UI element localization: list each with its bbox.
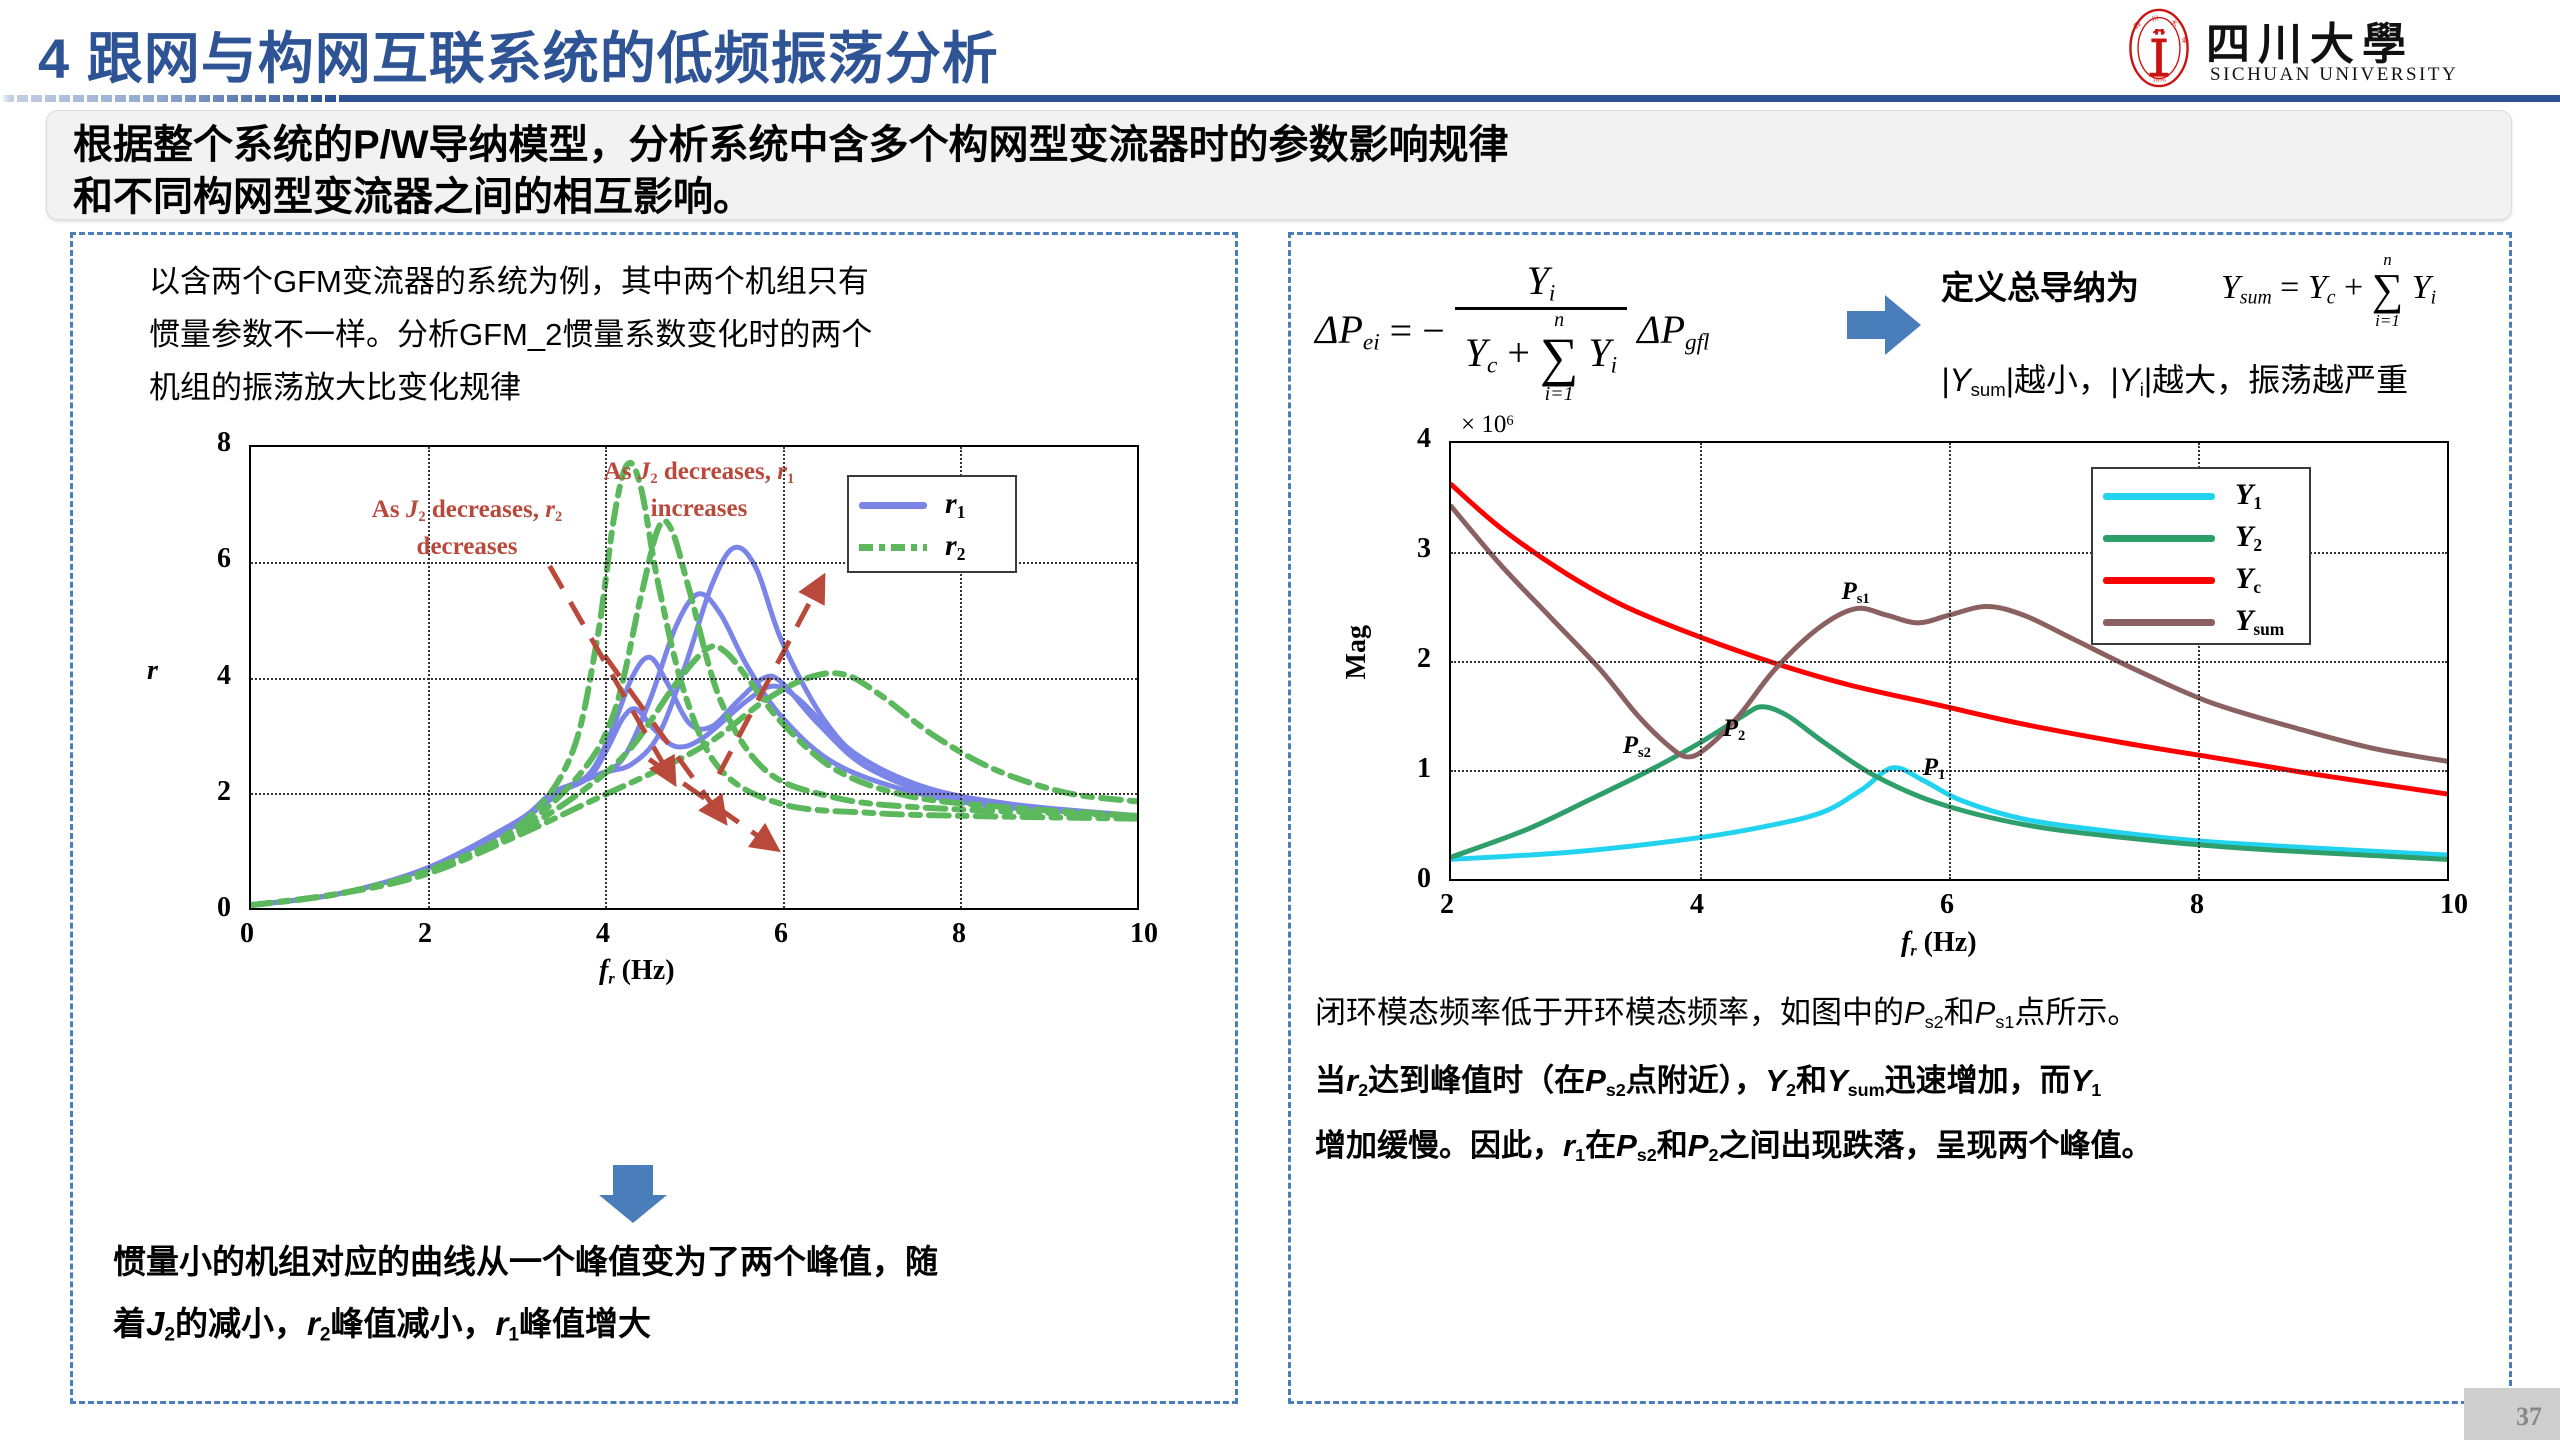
- formula-denominator: Yc + n ∑ i=1 Yi: [1455, 307, 1627, 404]
- formula-rhs: ΔPgfl: [1637, 306, 1709, 356]
- right-chart-legend: Y1 Y2 Yc Ysum: [2091, 467, 2311, 645]
- legend-label-ysum: Ysum: [2235, 604, 2284, 640]
- right-x-axis-sub: r: [1910, 942, 1916, 960]
- legend-label-y2-sub: 2: [2253, 535, 2262, 555]
- lc2-c: 峰值减小，: [330, 1305, 495, 1342]
- legend-label-r1-sub: 1: [957, 502, 966, 522]
- y-tick-label: 0: [217, 892, 231, 924]
- ysum-sum-symbol: n ∑ i=1: [2372, 251, 2404, 329]
- note-b: |越小，: [2006, 362, 2110, 398]
- legend-label-y1: Y1: [2235, 478, 2262, 514]
- note-a: |Y: [1941, 362, 1971, 398]
- ysum-lhs: Y: [2221, 269, 2240, 306]
- series-r1_c: [251, 657, 1137, 905]
- formula-equals: = −: [1390, 307, 1445, 354]
- page-number: 37: [2516, 1402, 2542, 1432]
- ysum-plus: +: [2344, 269, 2363, 306]
- legend-label-yc-base: Y: [2235, 562, 2253, 595]
- left-x-axis-f: f: [599, 955, 608, 986]
- gridline-v: [1700, 443, 1702, 879]
- right-x-axis-label: fr (Hz): [1901, 927, 1977, 961]
- logo-chinese-name: 四川大學: [2206, 8, 2414, 72]
- title-divider-dots: [0, 95, 340, 102]
- left-intro-line-1: 以含两个GFM变流器的系统为例，其中两个机组只有: [149, 255, 1169, 308]
- right-chart-exponent-value: 6: [1506, 413, 1513, 429]
- legend-label-ysum-base: Y: [2235, 604, 2253, 637]
- left-annotation-r1-line2: increases: [559, 494, 839, 524]
- formula-rhs-sub: gfl: [1685, 329, 1709, 355]
- x-tick-label: 8: [952, 918, 966, 950]
- legend-label-y1-base: Y: [2235, 478, 2253, 511]
- note-c: |Y: [2110, 362, 2140, 398]
- point-label-Ps1: Ps1: [1842, 578, 1870, 608]
- right-panel: ΔPei = − Yi Yc + n ∑ i=1 Yi ΔPgfl 定义总导纳为…: [1288, 232, 2512, 1404]
- title-divider: [0, 95, 2560, 102]
- lc2-a: 着: [113, 1305, 146, 1342]
- y-tick-label: 4: [217, 660, 231, 692]
- left-annotation-r1: As J2 decreases, r1 increases: [559, 457, 839, 524]
- legend-line-y1: [2103, 493, 2215, 500]
- y-tick-label: 3: [1417, 533, 1431, 565]
- series-r2_b: [251, 521, 1137, 905]
- ysum-yi: Y: [2412, 269, 2431, 306]
- y-tick-label: 8: [217, 427, 231, 459]
- formula-lhs: ΔPei: [1315, 306, 1380, 356]
- left-panel: 以含两个GFM变流器的系统为例，其中两个机组只有 惯量参数不一样。分析GFM_2…: [70, 232, 1238, 1404]
- point-label-P2: P2: [1723, 715, 1746, 745]
- lc2-r2: r: [307, 1305, 320, 1342]
- legend-label-y2-base: Y: [2235, 520, 2253, 553]
- right-y-axis-label: Mag: [1341, 625, 1373, 679]
- lc2-r1: r: [495, 1305, 508, 1342]
- x-tick-label: 10: [1130, 918, 1158, 950]
- formula-sum-bottom: i=1: [1540, 384, 1579, 404]
- legend-item-yc: Yc: [2103, 559, 2303, 601]
- legend-label-r2-sub: 2: [957, 544, 966, 564]
- formula-rhs-base: ΔP: [1637, 307, 1685, 352]
- formula-den-yi-sub: i: [1611, 353, 1617, 379]
- legend-label-r2-base: r: [945, 529, 957, 562]
- x-tick-label: 10: [2440, 889, 2468, 921]
- formula-fraction: Yi Yc + n ∑ i=1 Yi: [1455, 257, 1627, 404]
- left-y-axis-label: r: [147, 655, 158, 687]
- y-tick-label: 4: [1417, 423, 1431, 455]
- right-x-axis-f: f: [1901, 927, 1910, 958]
- svg-text:學: 學: [2179, 35, 2190, 46]
- ysum-equals: =: [2280, 269, 2299, 306]
- legend-label-ysum-sub: sum: [2253, 619, 2284, 639]
- left-chart: 024681002468 r fr (Hz) r1 r2 As J2 decre…: [129, 425, 1189, 985]
- left-intro-line-2: 惯量参数不一样。分析GFM_2惯量系数变化时的两个: [149, 308, 1169, 361]
- x-tick-label: 6: [1940, 889, 1954, 921]
- legend-item-y1: Y1: [2103, 475, 2303, 517]
- legend-item-y2: Y2: [2103, 517, 2303, 559]
- statement-line-2: 和不同构网型变流器之间的相互影响。: [73, 171, 2485, 223]
- formula-den-yc-sub: c: [1487, 353, 1497, 379]
- gridline-v: [1949, 443, 1951, 879]
- left-arrow-head: [599, 1195, 667, 1223]
- x-tick-label: 0: [240, 918, 254, 950]
- left-x-axis-label: fr (Hz): [599, 955, 675, 989]
- x-tick-label: 2: [418, 918, 432, 950]
- left-annotation-r2-line2: decreases: [317, 532, 617, 562]
- y-tick-label: 2: [1417, 643, 1431, 675]
- statement-box: 根据整个系统的P/W导纳模型，分析系统中含多个构网型变流器时的参数影响规律 和不…: [46, 110, 2512, 220]
- formula-num-sub: i: [1549, 280, 1555, 306]
- footer-corner: [2464, 1388, 2560, 1440]
- page-title: 4 跟网与构网互联系统的低频振荡分析: [38, 14, 999, 95]
- left-conclusion-line-1: 惯量小的机组对应的曲线从一个峰值变为了两个峰值，随: [113, 1235, 1203, 1289]
- left-annotation-r1-line1: As J2 decreases, r1: [559, 457, 839, 494]
- y-tick-label: 1: [1417, 753, 1431, 785]
- gridline-h: [251, 793, 1137, 795]
- formula-lhs-sub: ei: [1363, 329, 1380, 355]
- legend-line-ysum: [2103, 619, 2215, 626]
- x-tick-label: 2: [1440, 889, 1454, 921]
- point-label-P1: P1: [1923, 754, 1946, 784]
- right-conclusion-line-3: 增加缓慢。因此，r1在Ps2和P2之间出现跌落，呈现两个峰值。: [1315, 1120, 2495, 1166]
- formula-num-base: Y: [1527, 258, 1549, 303]
- left-intro-text: 以含两个GFM变流器的系统为例，其中两个机组只有 惯量参数不一样。分析GFM_2…: [149, 255, 1169, 414]
- legend-label-yc-sub: c: [2253, 577, 2261, 597]
- x-tick-label: 6: [774, 918, 788, 950]
- note-a-sub: sum: [1971, 379, 2006, 400]
- lc2-r1sub: 1: [508, 1324, 519, 1345]
- ysum-note: |Ysum|越小，|Yi|越大，振荡越严重: [1941, 355, 2408, 401]
- right-arrow-tip: [1885, 295, 1921, 355]
- ysum-lhs-sub: sum: [2240, 286, 2272, 308]
- legend-label-r1-base: r: [945, 487, 957, 520]
- lc2-Jsub: 2: [164, 1324, 175, 1345]
- formula-den-plus: +: [1507, 331, 1530, 376]
- legend-line-y2: [2103, 535, 2215, 542]
- right-arrow-icon: [1847, 295, 1921, 355]
- university-logo: 1896 四 川 大 學 四川大學 SICHUAN UNIVERSITY: [2120, 6, 2540, 90]
- formula-den-yc: Y: [1465, 331, 1487, 376]
- legend-line-r1: [859, 502, 927, 509]
- x-tick-label: 4: [1690, 889, 1704, 921]
- define-total-admittance-label: 定义总导纳为: [1941, 261, 2139, 309]
- ysum-yi-sub: i: [2431, 286, 2436, 308]
- legend-label-y1-sub: 1: [2253, 493, 2262, 513]
- right-conclusion-line-1: 闭环模态频率低于开环模态频率，如图中的Ps2和Ps1点所示。: [1315, 987, 2495, 1033]
- right-x-axis-unit: (Hz): [1924, 927, 1977, 958]
- ysum-definition-formula: Ysum = Yc + n ∑ i=1 Yi: [2221, 251, 2436, 329]
- statement-line-1: 根据整个系统的P/W导纳模型，分析系统中含多个构网型变流器时的参数影响规律: [73, 119, 2485, 171]
- svg-text:1896: 1896: [2152, 76, 2166, 83]
- x-tick-label: 8: [2190, 889, 2204, 921]
- lc2-r2sub: 2: [320, 1324, 331, 1345]
- legend-label-r2: r2: [945, 529, 965, 565]
- formula-sum-symbol: n ∑ i=1: [1540, 310, 1579, 404]
- left-conclusion-line-2: 着J2的减小，r2峰值减小，r1峰值增大: [113, 1297, 1203, 1362]
- formula-den-yi: Y: [1588, 331, 1610, 376]
- legend-label-r1: r1: [945, 487, 965, 523]
- legend-item-r1: r1: [859, 485, 1009, 525]
- lc2-b: 的减小，: [175, 1305, 307, 1342]
- gridline-h: [251, 678, 1137, 680]
- legend-line-yc: [2103, 577, 2215, 584]
- right-chart: × 106 24681001234 Mag fr (Hz) Y1 Y2 Yc: [1301, 405, 2501, 965]
- right-chart-exponent-base: × 10: [1461, 411, 1506, 438]
- legend-item-ysum: Ysum: [2103, 601, 2303, 643]
- right-conclusion-line-2: 当r2达到峰值时（在Ps2点附近），Y2和Ysum迅速增加，而Y1: [1315, 1055, 2495, 1101]
- point-label-Ps2: Ps2: [1623, 732, 1651, 762]
- y-tick-label: 6: [217, 543, 231, 575]
- lc2-J: J: [146, 1305, 164, 1342]
- left-x-axis-sub: r: [608, 970, 614, 988]
- right-chart-exponent: × 106: [1461, 411, 1514, 439]
- left-arrow-shaft: [613, 1165, 653, 1195]
- ysum-yc: Y: [2308, 269, 2327, 306]
- legend-label-y2: Y2: [2235, 520, 2262, 556]
- legend-item-r2: r2: [859, 527, 1009, 567]
- legend-line-r2: [859, 544, 927, 551]
- delta-p-formula: ΔPei = − Yi Yc + n ∑ i=1 Yi ΔPgfl: [1315, 257, 1710, 404]
- ysum-yc-sub: c: [2327, 286, 2336, 308]
- svg-text:川: 川: [2151, 15, 2159, 23]
- legend-label-yc: Yc: [2235, 562, 2261, 598]
- sichuan-seal-icon: 1896 四 川 大 學: [2120, 8, 2198, 88]
- y-tick-label: 0: [1417, 863, 1431, 895]
- left-chart-legend: r1 r2: [847, 475, 1017, 573]
- logo-english-name: SICHUAN UNIVERSITY: [2210, 64, 2458, 86]
- formula-numerator: Yi: [1455, 257, 1627, 307]
- lc2-d: 峰值增大: [519, 1305, 651, 1342]
- formula-lhs-base: ΔP: [1315, 307, 1363, 352]
- left-x-axis-unit: (Hz): [622, 955, 675, 986]
- right-arrow-bar: [1847, 311, 1887, 339]
- y-tick-label: 2: [217, 776, 231, 808]
- x-tick-label: 4: [596, 918, 610, 950]
- left-intro-line-3: 机组的振荡放大比变化规律: [149, 361, 1169, 414]
- ysum-sum-bottom: i=1: [2372, 312, 2404, 329]
- note-d: |越大，振荡越严重: [2144, 362, 2408, 398]
